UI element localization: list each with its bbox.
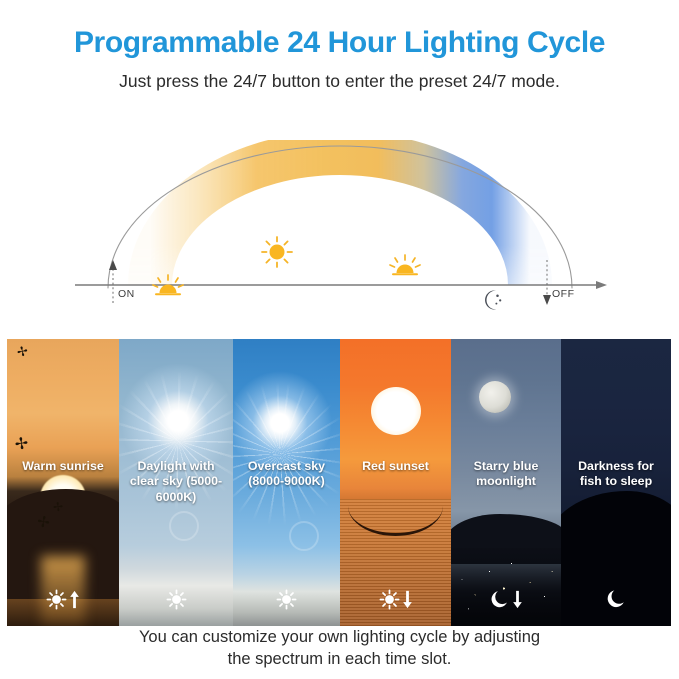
bird-icon: ✢ <box>14 436 30 454</box>
footer-line-1: You can customize your own lighting cycl… <box>0 627 679 649</box>
bird-icon: ✢ <box>52 501 63 514</box>
on-label: ON <box>118 288 135 300</box>
lens-ghost <box>289 521 319 551</box>
sun-disc <box>371 387 421 435</box>
sunset-icon <box>390 255 420 274</box>
arrow-down-icon <box>512 590 523 609</box>
badge-sun <box>119 589 233 610</box>
panel-caption: Warm sunrise <box>7 459 119 474</box>
sun-icon <box>379 589 400 610</box>
header: Programmable 24 Hour Lighting Cycle Just… <box>0 0 679 92</box>
lighting-modes-strip: ✢ ✢ ✢ ✢ Warm sunrise Daylight with cl <box>7 339 671 626</box>
footer-caption: You can customize your own lighting cycl… <box>0 627 679 671</box>
panel-caption: Red sunset <box>340 459 451 474</box>
off-label: OFF <box>552 288 575 300</box>
sun-icon <box>166 589 187 610</box>
badge-sun <box>233 589 340 610</box>
panel-red-sunset[interactable]: Red sunset <box>340 339 451 626</box>
axis-arrowhead-icon <box>596 281 607 289</box>
badge-moon-down <box>451 589 561 610</box>
lighting-cycle-diagram: ON OFF <box>0 100 679 335</box>
page-subtitle: Just press the 24/7 button to enter the … <box>0 71 679 92</box>
bird-icon: ✢ <box>16 344 29 359</box>
page-title: Programmable 24 Hour Lighting Cycle <box>0 26 679 59</box>
panel-caption: Darkness for fish to sleep <box>561 459 671 490</box>
sun-icon <box>46 589 67 610</box>
footer-line-2: the spectrum in each time slot. <box>0 649 679 671</box>
panel-overcast-sky[interactable]: Overcast sky (8000-9000K) <box>233 339 340 626</box>
moon-icon <box>485 290 501 309</box>
badge-moon <box>561 588 671 610</box>
sun-icon <box>276 589 297 610</box>
spectrum-arc-band <box>150 153 530 285</box>
panel-daylight-clear-sky[interactable]: Daylight with clear sky (5000-6000K) <box>119 339 233 626</box>
panel-caption: Starry blue moonlight <box>451 459 561 490</box>
moon-disc <box>479 381 511 413</box>
badge-sun-up <box>7 589 119 610</box>
panel-caption: Daylight with clear sky (5000-6000K) <box>119 459 233 505</box>
arc-diagram-svg <box>0 100 679 335</box>
city-lights <box>451 548 561 626</box>
bird-icon: ✢ <box>36 514 51 531</box>
badge-sun-down <box>340 589 451 610</box>
panel-starry-blue-moonlight[interactable]: Starry blue moonlight <box>451 339 561 626</box>
moon-icon <box>605 588 627 610</box>
moon-icon <box>489 589 510 610</box>
panel-caption: Overcast sky (8000-9000K) <box>233 459 340 490</box>
lens-ghost <box>169 511 199 541</box>
panel-warm-sunrise[interactable]: ✢ ✢ ✢ ✢ Warm sunrise <box>7 339 119 626</box>
arrow-up-icon <box>69 590 80 609</box>
panel-darkness-for-fish[interactable]: Darkness for fish to sleep <box>561 339 671 626</box>
sun-icon <box>262 237 292 267</box>
arrow-down-icon <box>402 590 413 609</box>
